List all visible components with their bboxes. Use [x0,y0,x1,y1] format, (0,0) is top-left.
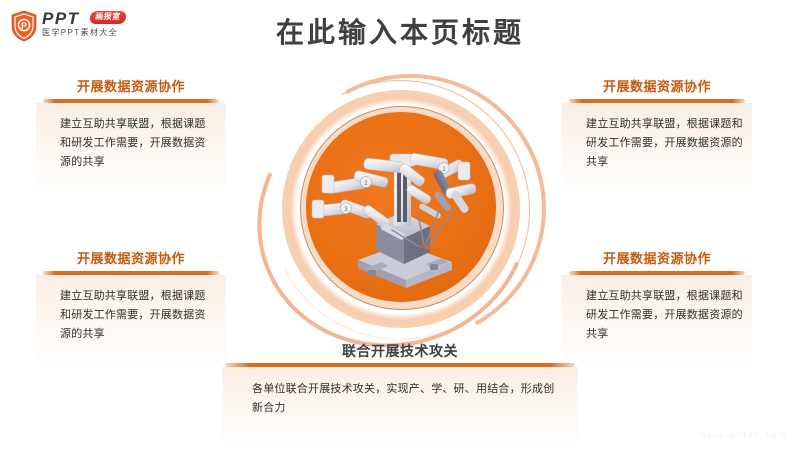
card-body-text: 建立互助共享联盟，根据课题和研发工作需要，开展数据资源的共享 [36,287,226,344]
info-card-bottom-center[interactable]: 联合开展技术攻关 各单位联合开展技术攻关，实现产、学、研、用结合，形成创新合力 [222,342,578,450]
info-card-top-right[interactable]: 开展数据资源协作 建立互助共享联盟，根据课题和研发工作需要，开展数据资源的共享 [562,78,752,199]
card-body: 建立互助共享联盟，根据课题和研发工作需要，开展数据资源的共享 [562,103,752,199]
card-body-text: 建立互助共享联盟，根据课题和研发工作需要，开展数据资源的共享 [562,115,752,172]
watermark: www.ppter.com [700,430,788,440]
card-heading: 开展数据资源协作 [36,250,226,268]
card-body-text: 各单位联合开展技术攻关，实现产、学、研、用结合，形成创新合力 [222,380,578,418]
card-heading: 联合开展技术攻关 [222,342,578,360]
center-graphic: 2 3 [262,72,538,348]
page-title: 在此输入本页标题 [0,16,800,50]
info-card-bottom-left[interactable]: 开展数据资源协作 建立互助共享联盟，根据课题和研发工作需要，开展数据资源的共享 [36,250,226,371]
card-heading: 开展数据资源协作 [562,250,752,268]
card-body-text: 建立互助共享联盟，根据课题和研发工作需要，开展数据资源的共享 [36,115,226,172]
info-card-top-left[interactable]: 开展数据资源协作 建立互助共享联盟，根据课题和研发工作需要，开展数据资源的共享 [36,78,226,199]
card-body: 建立互助共享联盟，根据课题和研发工作需要，开展数据资源的共享 [36,275,226,371]
card-body: 建立互助共享联盟，根据课题和研发工作需要，开展数据资源的共享 [562,275,752,371]
info-card-bottom-right[interactable]: 开展数据资源协作 建立互助共享联盟，根据课题和研发工作需要，开展数据资源的共享 [562,250,752,371]
card-body: 建立互助共享联盟，根据课题和研发工作需要，开展数据资源的共享 [36,103,226,199]
card-heading: 开展数据资源协作 [36,78,226,96]
card-heading: 开展数据资源协作 [562,78,752,96]
card-body-text: 建立互助共享联盟，根据课题和研发工作需要，开展数据资源的共享 [562,287,752,344]
card-body: 各单位联合开展技术攻关，实现产、学、研、用结合，形成创新合力 [222,367,578,450]
orange-disc: 2 3 [306,112,496,302]
surgical-robot-icon: 2 3 [306,112,496,302]
